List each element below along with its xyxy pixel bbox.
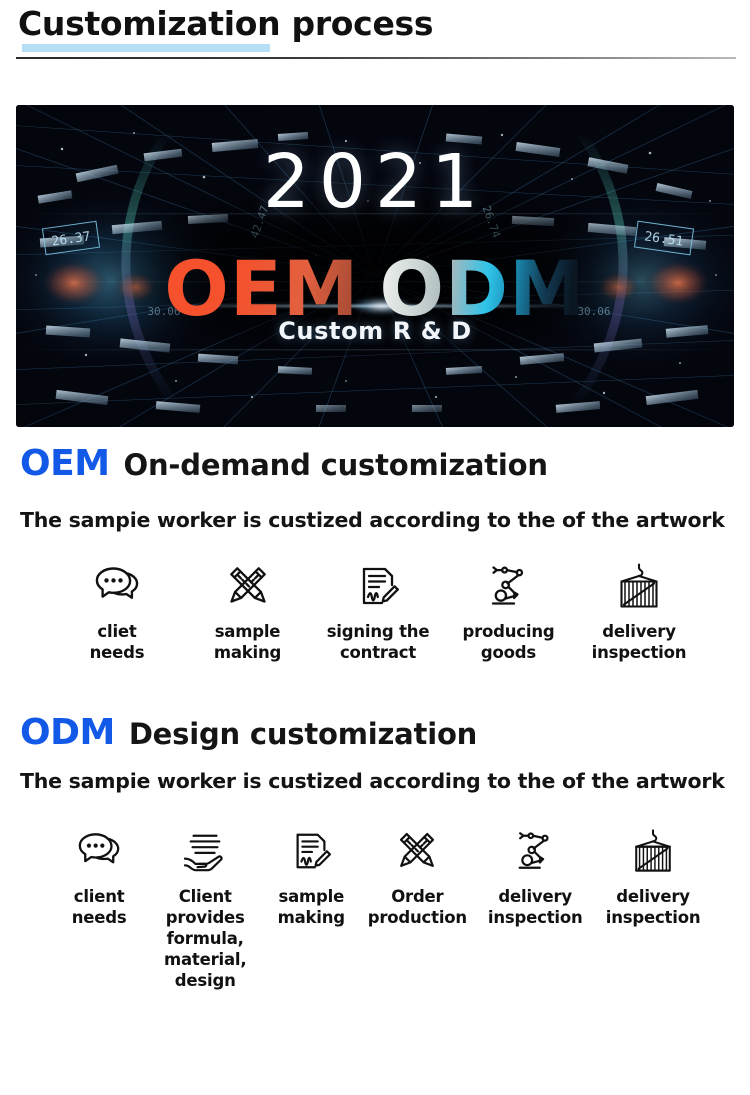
oem-step-client-needs[interactable]: clietneeds bbox=[58, 560, 176, 663]
odm-section-heading: ODMDesign customization bbox=[20, 712, 477, 753]
customization-process-page: Customization process bbox=[0, 0, 750, 1095]
contract-signature-icon bbox=[288, 825, 334, 877]
odm-step-label: clientneeds bbox=[72, 886, 127, 928]
odm-step-label: Orderproduction bbox=[368, 886, 467, 928]
odm-step-label: samplemaking bbox=[278, 886, 345, 928]
oem-step-label: producinggoods bbox=[462, 621, 554, 663]
oem-step-sample-making[interactable]: samplemaking bbox=[189, 560, 307, 663]
odm-step-label: deliveryinspection bbox=[488, 886, 583, 928]
title-underline-bar bbox=[22, 44, 270, 52]
odm-step-delivery-inspection-crate[interactable]: deliveryinspection bbox=[594, 825, 712, 928]
odm-step-client-needs[interactable]: clientneeds bbox=[52, 825, 146, 928]
cargo-crate-icon bbox=[630, 825, 676, 877]
hand-document-icon bbox=[180, 825, 230, 877]
odm-step-list: clientneeds Client providesformula,mater… bbox=[52, 825, 712, 991]
odm-step-label: Client providesformula,material,design bbox=[146, 886, 264, 991]
title-divider-rule bbox=[16, 57, 736, 59]
oem-tag: OEM bbox=[20, 443, 110, 484]
odm-step-label: deliveryinspection bbox=[606, 886, 701, 928]
oem-step-label: signing thecontract bbox=[327, 621, 430, 663]
oem-title: On-demand customization bbox=[124, 448, 548, 482]
page-title: Customization process bbox=[18, 2, 433, 46]
odm-step-client-provides[interactable]: Client providesformula,material,design bbox=[146, 825, 264, 991]
pencil-ruler-icon bbox=[224, 560, 272, 612]
chat-bubbles-icon bbox=[92, 560, 142, 612]
oem-step-list: clietneeds samplemaking bbox=[58, 560, 698, 663]
oem-section-heading: OEMOn-demand customization bbox=[20, 443, 548, 484]
odm-step-sample-making[interactable]: samplemaking bbox=[264, 825, 358, 928]
cargo-crate-icon bbox=[615, 560, 663, 612]
oem-step-producing-goods[interactable]: producinggoods bbox=[450, 560, 568, 663]
odm-step-delivery-inspection-robot[interactable]: deliveryinspection bbox=[476, 825, 594, 928]
oem-step-label: clietneeds bbox=[90, 621, 145, 663]
banner-year: 2021 bbox=[16, 143, 734, 221]
contract-signature-icon bbox=[354, 560, 402, 612]
oem-subtitle: The sampie worker is custized according … bbox=[20, 508, 725, 532]
odm-title: Design customization bbox=[129, 717, 477, 751]
robot-arm-icon bbox=[485, 560, 533, 612]
odm-tag: ODM bbox=[20, 712, 115, 753]
oem-step-label: samplemaking bbox=[214, 621, 281, 663]
oem-step-signing-contract[interactable]: signing thecontract bbox=[319, 560, 437, 663]
odm-subtitle: The sampie worker is custized according … bbox=[20, 769, 725, 793]
pencil-ruler-icon bbox=[394, 825, 440, 877]
oem-step-label: deliveryinspection bbox=[592, 621, 687, 663]
page-header: Customization process bbox=[0, 0, 750, 70]
oem-step-delivery-inspection[interactable]: deliveryinspection bbox=[580, 560, 698, 663]
robot-arm-icon bbox=[512, 825, 558, 877]
chat-bubbles-icon bbox=[75, 825, 123, 877]
banner-tagline: Custom R & D bbox=[16, 317, 734, 345]
odm-step-order-production[interactable]: Orderproduction bbox=[358, 825, 476, 928]
hero-banner: 26.37 26.51 42.47 26.74 30.06 30.06 bbox=[16, 105, 734, 427]
